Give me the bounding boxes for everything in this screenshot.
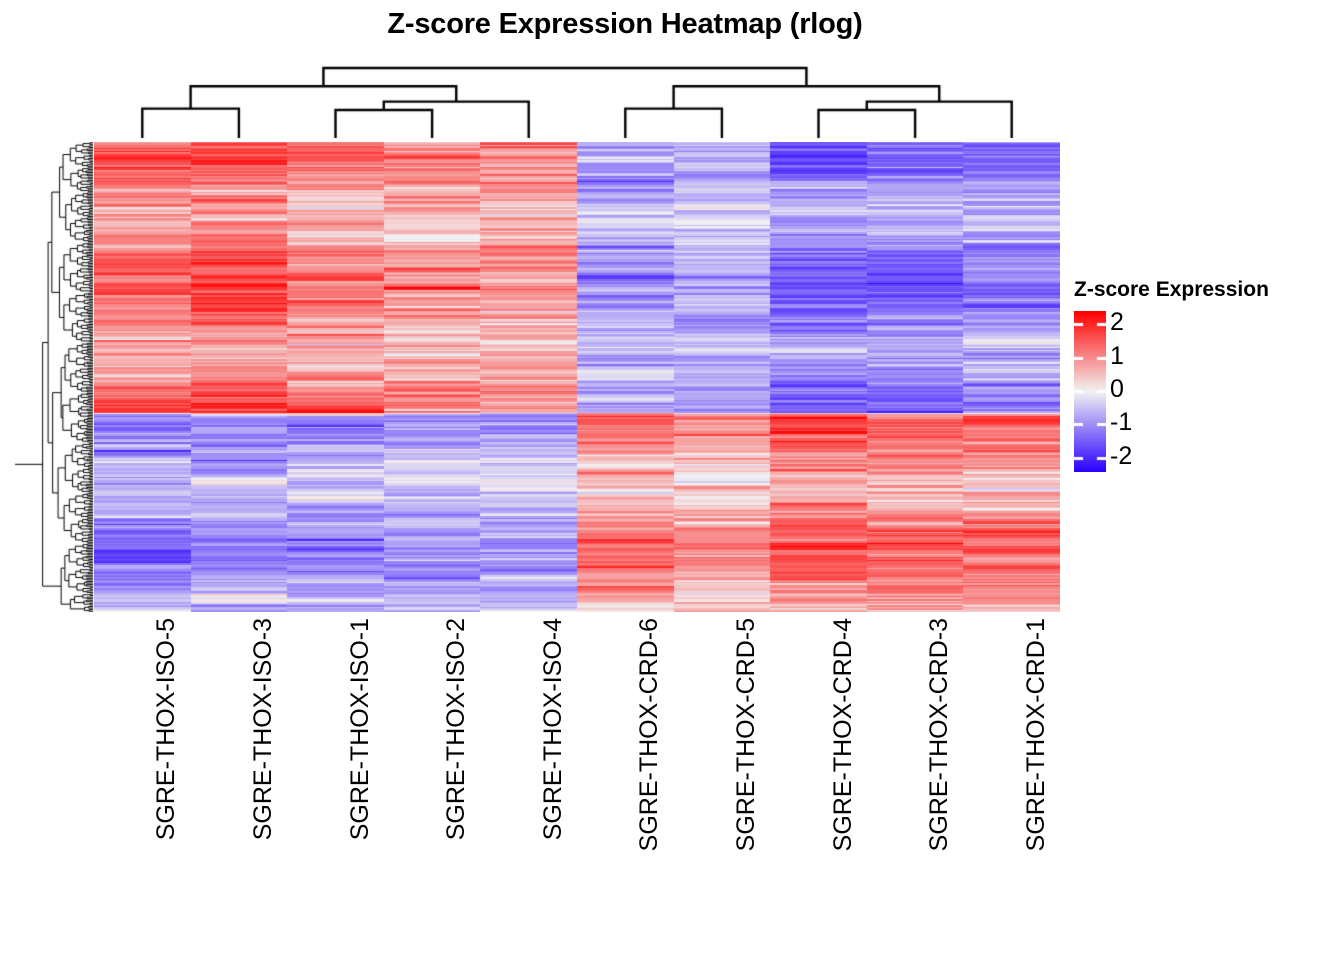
- column-label-5: SGRE-THOX-ISO-4: [541, 618, 565, 918]
- column-label-10: SGRE-THOX-CRD-1: [1024, 618, 1048, 918]
- colorbar-tick-2: 2: [1110, 310, 1124, 335]
- column-label-8: SGRE-THOX-CRD-4: [831, 618, 855, 918]
- column-label-9: SGRE-THOX-CRD-3: [927, 618, 951, 918]
- row-dendrogram: [12, 142, 94, 612]
- column-label-4: SGRE-THOX-ISO-2: [444, 618, 468, 918]
- colorbar-tick-neg2: -2: [1110, 444, 1132, 469]
- heatmap-figure: Z-score Expression Heatmap (rlog) SGRE-T…: [0, 0, 1344, 960]
- column-label-7: SGRE-THOX-CRD-5: [734, 618, 758, 918]
- heatmap-body: [94, 142, 1060, 612]
- column-label-2: SGRE-THOX-ISO-3: [251, 618, 275, 918]
- column-dendrogram: [94, 60, 1060, 142]
- page-title: Z-score Expression Heatmap (rlog): [0, 8, 1250, 41]
- column-label-6: SGRE-THOX-CRD-6: [637, 618, 661, 918]
- column-label-3: SGRE-THOX-ISO-1: [348, 618, 372, 918]
- heatmap-canvas: [94, 142, 1060, 612]
- colorbar: [1074, 311, 1106, 472]
- column-label-1: SGRE-THOX-ISO-5: [154, 618, 178, 918]
- colorbar-tick-neg1: -1: [1110, 410, 1132, 435]
- legend: Z-score Expression 210-1-2: [1070, 278, 1330, 488]
- colorbar-tick-1: 1: [1110, 344, 1124, 369]
- column-label-group: SGRE-THOX-ISO-5SGRE-THOX-ISO-3SGRE-THOX-…: [94, 618, 1060, 938]
- legend-title: Z-score Expression: [1074, 278, 1269, 302]
- colorbar-tick-0: 0: [1110, 377, 1124, 402]
